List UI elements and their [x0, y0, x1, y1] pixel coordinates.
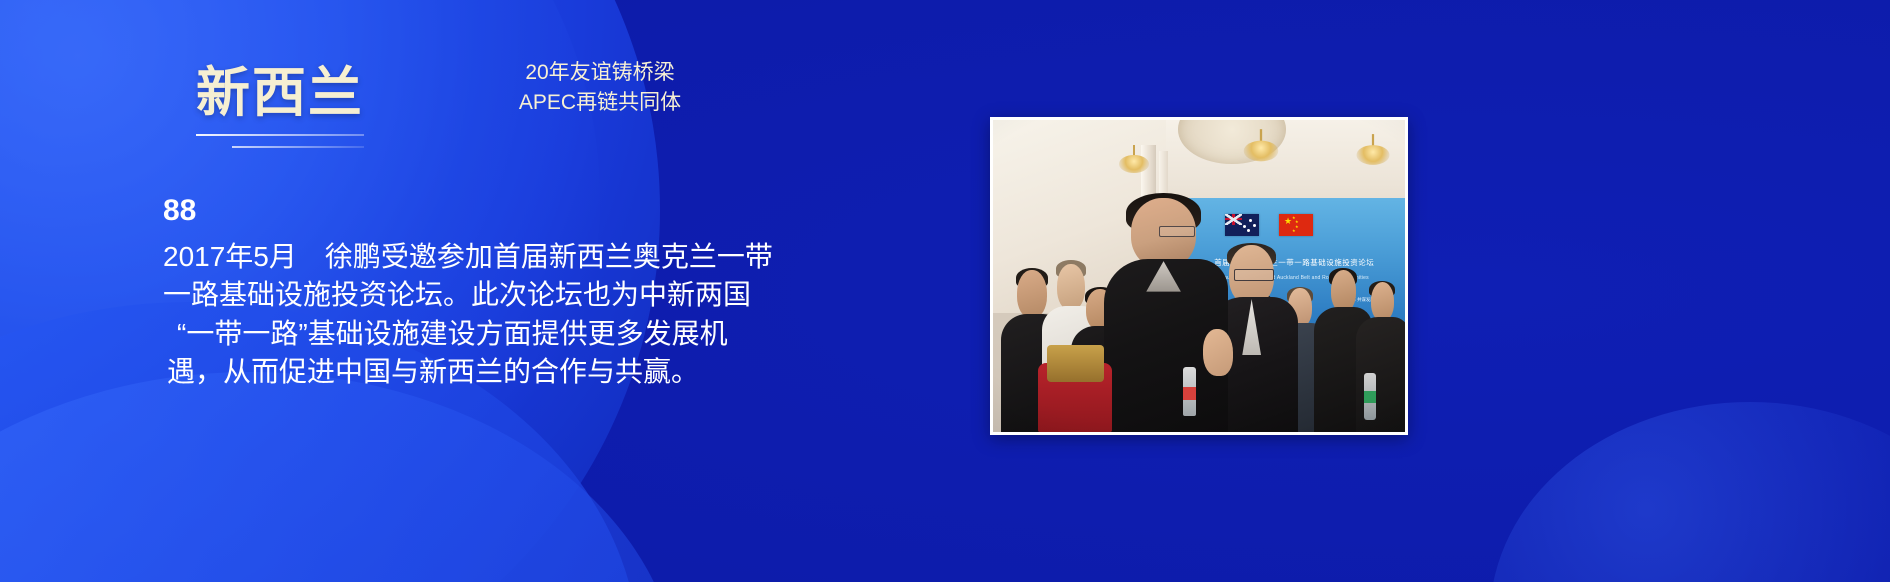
paragraph-line: 遇，从而促进中国与新西兰的合作与共赢。	[163, 353, 863, 391]
photo-person-foreground	[1104, 198, 1228, 432]
title-divider-line-1	[196, 134, 364, 136]
title-divider-line-2	[232, 146, 364, 148]
water-bottle	[1183, 367, 1196, 417]
photo-frame: ★ ★ ★ ★ ★ 首届新西兰奥克兰一带一路基础设施投资论坛 Inaugural…	[990, 117, 1408, 435]
subtitle-line-1: 20年友谊铸桥梁	[430, 58, 770, 88]
subtitle-line-2: APEC再链共同体	[430, 88, 770, 118]
person-body	[1356, 317, 1405, 432]
person-hand	[1203, 329, 1233, 376]
china-flag-icon: ★ ★ ★ ★ ★	[1279, 214, 1313, 236]
eyeglasses-icon	[1159, 226, 1196, 237]
person-head	[1371, 282, 1395, 321]
flag-star: ★	[1292, 229, 1296, 233]
presentation-slide: 新西兰 20年友谊铸桥梁 APEC再链共同体 88 2017年5月 徐鹏受邀参加…	[0, 0, 1890, 582]
flag-star: ★	[1284, 218, 1291, 225]
water-bottle	[1364, 373, 1376, 420]
chandelier-icon	[1242, 130, 1281, 174]
slide-subtitle: 20年友谊铸桥梁 APEC再链共同体	[430, 58, 770, 118]
paragraph-line: 2017年5月 徐鹏受邀参加首届新西兰奥克兰一带	[163, 238, 863, 276]
chandelier-icon	[1354, 134, 1391, 176]
paragraph-line: 一路基础设施投资论坛。此次论坛也为中新两国	[163, 276, 863, 314]
event-photograph: ★ ★ ★ ★ ★ 首届新西兰奥克兰一带一路基础设施投资论坛 Inaugural…	[993, 120, 1405, 432]
body-paragraph: 2017年5月 徐鹏受邀参加首届新西兰奥克兰一带 一路基础设施投资论坛。此次论坛…	[163, 238, 863, 391]
banquet-chair-back	[1047, 345, 1105, 382]
eyeglasses-icon	[1234, 269, 1274, 280]
new-zealand-flag-icon	[1225, 214, 1259, 236]
banner-flags: ★ ★ ★ ★ ★	[1225, 214, 1313, 236]
sequence-number: 88	[163, 196, 196, 226]
page-title: 新西兰	[196, 66, 364, 120]
person-head	[1331, 270, 1356, 312]
slide-header: 新西兰 20年友谊铸桥梁 APEC再链共同体	[0, 0, 1890, 180]
photo-person-background	[1356, 282, 1405, 432]
chandelier-icon	[1117, 145, 1151, 183]
paragraph-line: “一带一路”基础设施建设方面提供更多发展机	[163, 315, 863, 353]
